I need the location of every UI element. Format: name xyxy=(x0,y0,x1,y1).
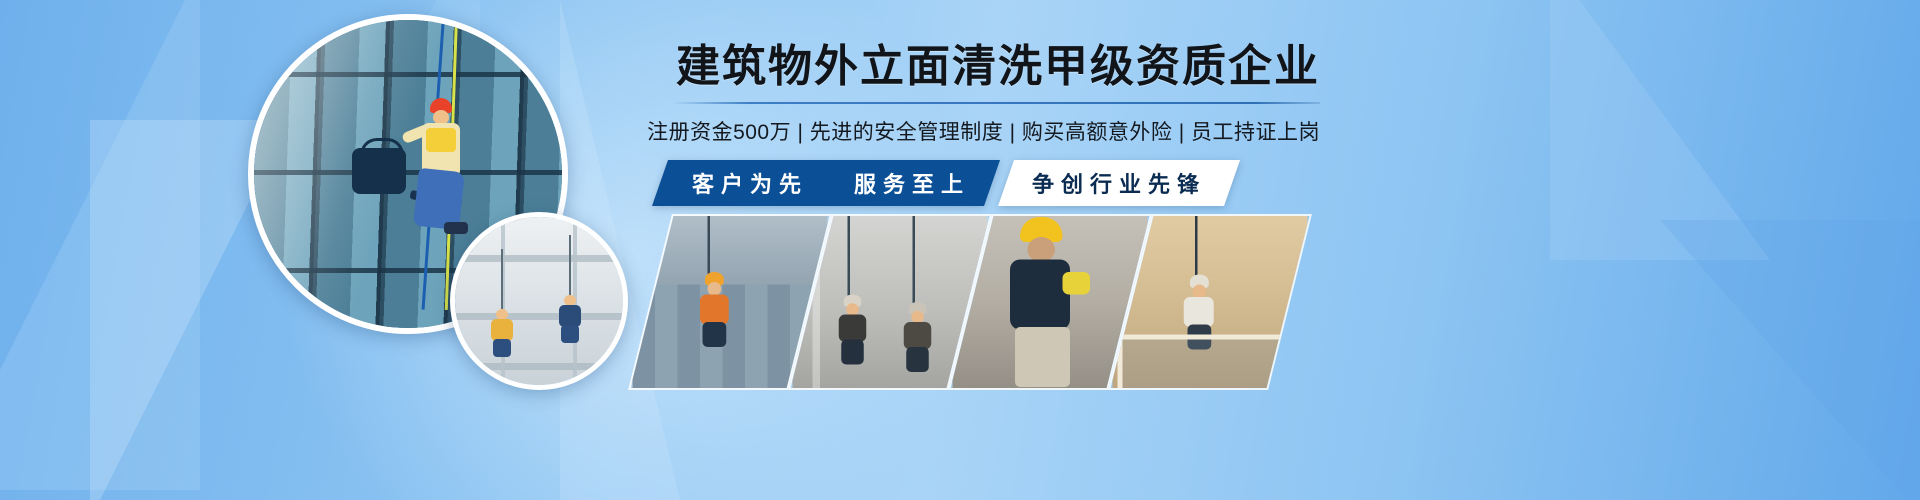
panel4-worker xyxy=(1178,275,1221,350)
photo-strip xyxy=(652,216,1272,388)
slogan-primary: 客户为先 服务至上 xyxy=(652,160,1000,206)
exterior-wall-scene xyxy=(455,217,623,385)
slogan-primary-left: 客户为先 xyxy=(692,167,808,199)
panel3-worker xyxy=(995,217,1088,387)
headline-divider xyxy=(672,102,1320,104)
circle-photo-secondary xyxy=(450,212,628,390)
slogan-bar: 客户为先 服务至上 争创行业先锋 xyxy=(652,160,1240,206)
banner-copy: 建筑物外立面清洗甲级资质企业 注册资金500万 | 先进的安全管理制度 | 购买… xyxy=(640,44,1320,146)
panel2-worker-left xyxy=(833,295,873,365)
mini-worker-left xyxy=(489,309,515,355)
banner-subtitle: 注册资金500万 | 先进的安全管理制度 | 购买高额意外险 | 员工持证上岗 xyxy=(640,116,1320,146)
cleaning-bucket-icon xyxy=(352,148,406,194)
panel2-worker-right xyxy=(898,302,938,372)
slogan-primary-right: 服务至上 xyxy=(854,167,970,199)
mini-worker-right xyxy=(557,295,583,341)
promotional-banner: 建筑物外立面清洗甲级资质企业 注册资金500万 | 先进的安全管理制度 | 购买… xyxy=(0,0,1920,500)
banner-headline: 建筑物外立面清洗甲级资质企业 xyxy=(640,44,1320,90)
panel1-worker xyxy=(693,272,736,347)
background-triangle-5 xyxy=(1660,220,1920,500)
slogan-secondary: 争创行业先锋 xyxy=(998,160,1240,206)
